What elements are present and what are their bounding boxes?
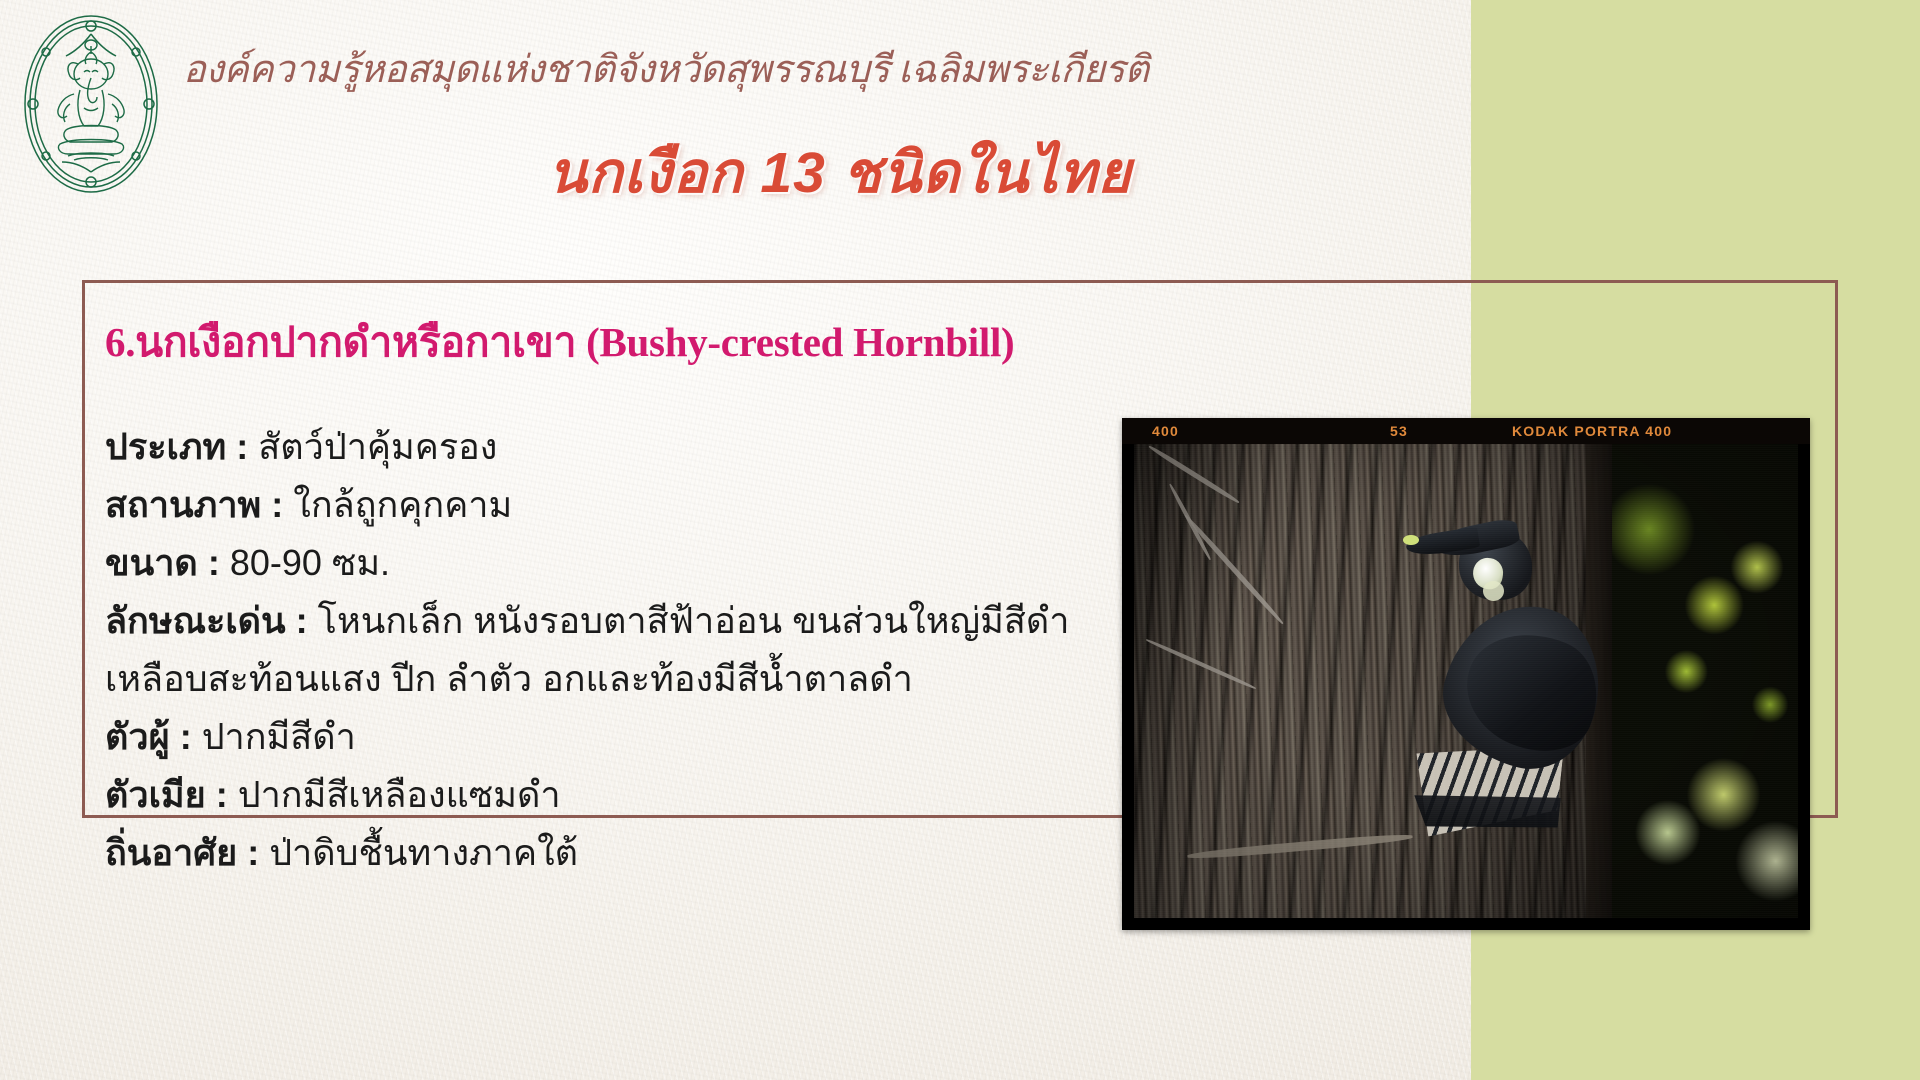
film-brand-label: KODAK PORTRA 400 [1512, 423, 1672, 439]
thai-garuda-ganesha-emblem-icon [22, 12, 160, 197]
page-title: นกเงือก 13 ชนิดในไทย [548, 128, 1132, 218]
field-separator: : [237, 832, 269, 873]
field-row-features: ลักษณะเด่น : โหนกเล็ก หนังรอบตาสีฟ้าอ่อน… [105, 592, 1115, 708]
hornbill-eye-skin [1483, 581, 1504, 601]
field-separator: : [170, 716, 202, 757]
photo-image-area [1134, 444, 1798, 918]
field-label: สถานภาพ [105, 484, 261, 525]
film-strip-header: 400 53 KODAK PORTRA 400 [1122, 418, 1810, 444]
slide-root: องค์ความรู้หอสมุดแห่งชาติจังหวัดสุพรรณบุ… [0, 0, 1920, 1080]
field-row-habitat: ถิ่นอาศัย : ป่าดิบชื้นทางภาคใต้ [105, 824, 1115, 882]
field-separator: : [261, 484, 293, 525]
entry-heading-english: (Bushy-crested Hornbill) [586, 319, 1014, 365]
field-value: ป่าดิบชื้นทางภาคใต้ [269, 832, 578, 873]
field-value: ปากมีสีดำ [202, 716, 356, 757]
entry-field-list: ประเภท : สัตว์ป่าคุ้มครอง สถานภาพ : ใกล้… [105, 418, 1115, 882]
entry-heading-thai: 6.นกเงือกปากดำหรือกาเขา [105, 319, 586, 365]
field-label: ตัวผู้ [105, 716, 170, 757]
field-row-category: ประเภท : สัตว์ป่าคุ้มครอง [105, 418, 1115, 476]
field-separator: : [226, 426, 258, 467]
field-label: ถิ่นอาศัย [105, 832, 237, 873]
entry-heading: 6.นกเงือกปากดำหรือกาเขา (Bushy-crested H… [105, 310, 1014, 375]
field-row-status: สถานภาพ : ใกล้ถูกคุกคาม [105, 476, 1115, 534]
field-value: 80-90 ซม. [230, 542, 390, 583]
field-value: สัตว์ป่าคุ้มครอง [258, 426, 497, 467]
film-iso-left-label: 400 [1152, 423, 1179, 439]
field-label: ขนาด [105, 542, 198, 583]
field-row-size: ขนาด : 80-90 ซม. [105, 534, 1115, 592]
field-separator: : [198, 542, 230, 583]
background-foliage [1612, 444, 1798, 918]
field-label: ลักษณะเด่น [105, 600, 286, 641]
field-row-female: ตัวเมีย : ปากมีสีเหลืองแซมดำ [105, 766, 1115, 824]
hornbill-photo: 400 53 KODAK PORTRA 400 [1122, 418, 1810, 930]
field-label: ตัวเมีย [105, 774, 206, 815]
field-separator: : [206, 774, 238, 815]
film-frame-number: 53 [1390, 423, 1408, 439]
field-separator: : [286, 600, 318, 641]
field-value: ปากมีสีเหลืองแซมดำ [238, 774, 561, 815]
field-row-male: ตัวผู้ : ปากมีสีดำ [105, 708, 1115, 766]
field-label: ประเภท [105, 426, 226, 467]
field-value: ใกล้ถูกคุกคาม [293, 484, 512, 525]
organization-header-text: องค์ความรู้หอสมุดแห่งชาติจังหวัดสุพรรณบุ… [183, 38, 1149, 99]
